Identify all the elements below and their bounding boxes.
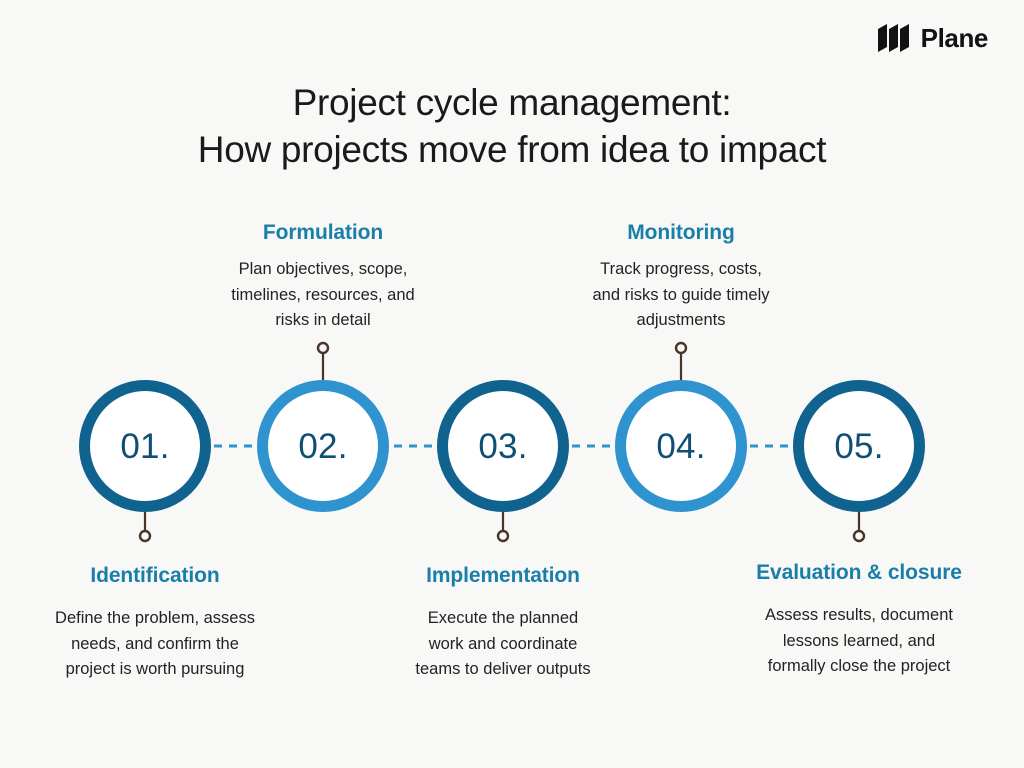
stage-desc-3: Execute the planned work and coordinate … [363, 606, 643, 683]
stage-number-4: 04. [656, 429, 705, 464]
stage-number-3: 03. [478, 429, 527, 464]
pin-dot-stage-5 [854, 531, 864, 541]
stage-desc-2-line-3: risks in detail [183, 308, 463, 334]
stage-block-identification: Identification Define the problem, asses… [10, 563, 300, 683]
stage-desc-5-line-1: Assess results, document [714, 603, 1004, 629]
stage-title-3: Implementation [363, 563, 643, 588]
pin-dot-stage-1 [140, 531, 150, 541]
stage-desc-3-line-3: teams to deliver outputs [363, 657, 643, 683]
stage-node-4[interactable]: 04. [615, 380, 747, 512]
stage-desc-2-line-1: Plan objectives, scope, [183, 257, 463, 283]
stage-node-5[interactable]: 05. [793, 380, 925, 512]
stage-node-2[interactable]: 02. [257, 380, 389, 512]
stage-desc-4-line-1: Track progress, costs, [541, 257, 821, 283]
stage-desc-3-line-2: work and coordinate [363, 632, 643, 658]
pin-dot-stage-2 [318, 343, 328, 353]
stage-desc-1-line-3: project is worth pursuing [10, 657, 300, 683]
stage-title-2: Formulation [183, 220, 463, 245]
stage-desc-4: Track progress, costs, and risks to guid… [541, 257, 821, 334]
stage-desc-1-line-1: Define the problem, assess [10, 606, 300, 632]
infographic-canvas: Plane Project cycle management: How proj… [0, 0, 1024, 768]
stage-node-1[interactable]: 01. [79, 380, 211, 512]
stage-title-4: Monitoring [541, 220, 821, 245]
stage-block-formulation: Formulation Plan objectives, scope, time… [183, 220, 463, 334]
stage-desc-1: Define the problem, assess needs, and co… [10, 606, 300, 683]
stage-number-5: 05. [834, 429, 883, 464]
stage-desc-5-line-3: formally close the project [714, 654, 1004, 680]
stage-desc-5: Assess results, document lessons learned… [714, 603, 1004, 680]
pin-dot-stage-3 [498, 531, 508, 541]
stage-title-1: Identification [10, 563, 300, 588]
stage-desc-2-line-2: timelines, resources, and [183, 283, 463, 309]
stage-desc-4-line-2: and risks to guide timely [541, 283, 821, 309]
stage-desc-4-line-3: adjustments [541, 308, 821, 334]
stage-block-evaluation-closure: Evaluation & closure Assess results, doc… [714, 560, 1004, 680]
pin-dot-stage-4 [676, 343, 686, 353]
stage-desc-2: Plan objectives, scope, timelines, resou… [183, 257, 463, 334]
stage-block-implementation: Implementation Execute the planned work … [363, 563, 643, 683]
stage-block-monitoring: Monitoring Track progress, costs, and ri… [541, 220, 821, 334]
stage-number-1: 01. [120, 429, 169, 464]
stage-node-3[interactable]: 03. [437, 380, 569, 512]
stage-desc-1-line-2: needs, and confirm the [10, 632, 300, 658]
stage-number-2: 02. [298, 429, 347, 464]
stage-title-5: Evaluation & closure [714, 560, 1004, 585]
stage-desc-5-line-2: lessons learned, and [714, 629, 1004, 655]
stage-desc-3-line-1: Execute the planned [363, 606, 643, 632]
